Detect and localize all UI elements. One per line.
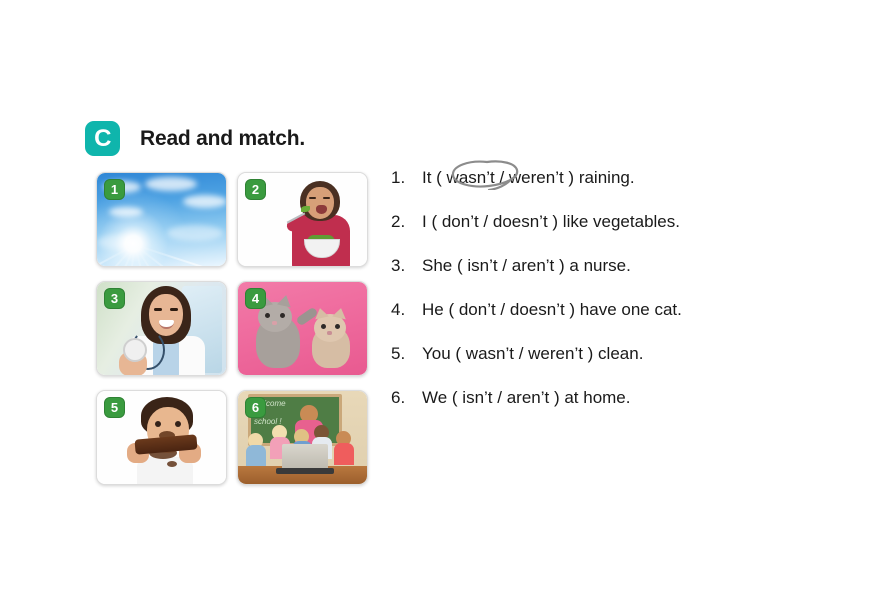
question-text: It ( wasn’t / weren’t ) raining. [422,168,635,188]
question-row[interactable]: 5. You ( wasn’t / weren’t ) clean. [391,344,841,388]
page-title: Read and match. [140,127,305,151]
picture-grid: 1 2 [96,172,368,485]
question-sentence: It ( wasn’t / weren’t ) raining. [422,168,635,187]
question-sentence: I ( don’t / doesn’t ) like vegetables. [422,212,680,232]
picture-number-badge: 3 [104,288,125,309]
picture-card-1[interactable]: 1 [96,172,227,267]
picture-number-badge: 2 [245,179,266,200]
question-number: 6. [391,388,422,408]
question-sentence: You ( wasn’t / weren’t ) clean. [422,344,643,364]
question-number: 1. [391,168,422,188]
question-number: 2. [391,212,422,232]
question-number: 5. [391,344,422,364]
question-sentence: She ( isn’t / aren’t ) a nurse. [422,256,631,276]
question-row[interactable]: 2. I ( don’t / doesn’t ) like vegetables… [391,212,841,256]
question-sentence: We ( isn’t / aren’t ) at home. [422,388,630,408]
question-sentence: He ( don’t / doesn’t ) have one cat. [422,300,682,320]
question-number: 4. [391,300,422,320]
section-badge-c: C [85,121,120,156]
question-number: 3. [391,256,422,276]
question-row[interactable]: 3. She ( isn’t / aren’t ) a nurse. [391,256,841,300]
picture-number-badge: 1 [104,179,125,200]
question-row[interactable]: 4. He ( don’t / doesn’t ) have one cat. [391,300,841,344]
picture-card-4[interactable]: 4 [237,281,368,376]
picture-card-6[interactable]: welcome to school ! 6 [237,390,368,485]
question-row[interactable]: 6. We ( isn’t / aren’t ) at home. [391,388,841,432]
section-header: C Read and match. [85,121,305,156]
picture-card-5[interactable]: 5 [96,390,227,485]
picture-number-badge: 4 [245,288,266,309]
picture-card-3[interactable]: 3 [96,281,227,376]
question-list: 1. It ( wasn’t / weren’t ) raining. 2. I… [391,168,841,432]
picture-card-2[interactable]: 2 [237,172,368,267]
picture-number-badge: 6 [245,397,266,418]
picture-number-badge: 5 [104,397,125,418]
question-row[interactable]: 1. It ( wasn’t / weren’t ) raining. [391,168,841,212]
